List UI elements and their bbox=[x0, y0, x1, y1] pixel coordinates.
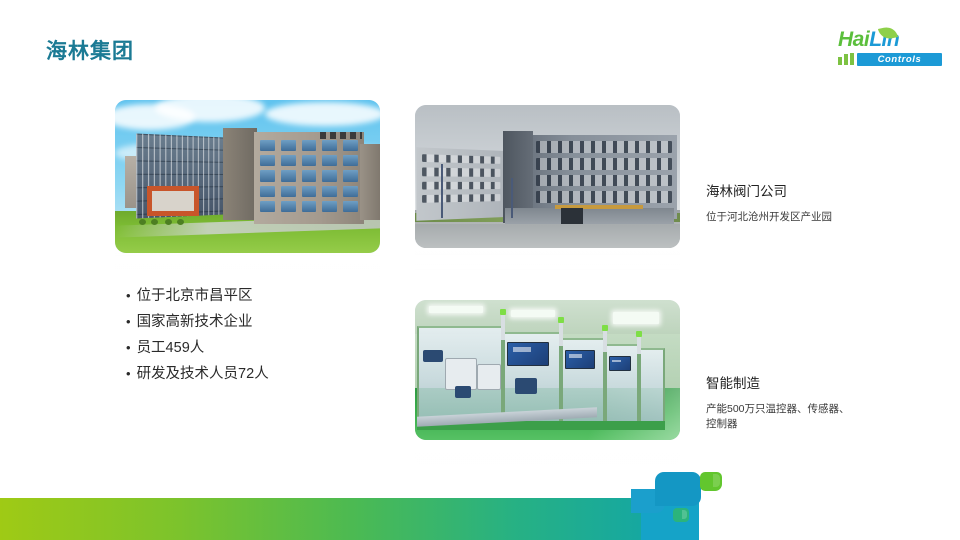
footer-gradient-bar bbox=[0, 498, 641, 540]
headquarters-photo bbox=[115, 100, 380, 253]
hailin-controls-logo: HaiLin Controls bbox=[838, 29, 942, 69]
page-title: 海林集团 bbox=[46, 41, 134, 62]
list-item-label: 研发及技术人员72人 bbox=[137, 361, 269, 387]
valve-factory-photo bbox=[415, 105, 680, 248]
valve-factory-photo-reflection bbox=[415, 248, 680, 278]
list-item-label: 国家高新技术企业 bbox=[137, 309, 253, 335]
valve-company-title: 海林阀门公司 bbox=[706, 183, 946, 201]
valve-company-subtitle: 位于河北沧州开发区产业园 bbox=[706, 210, 946, 225]
bullet-dot-icon: • bbox=[126, 335, 131, 361]
list-item: • 研发及技术人员72人 bbox=[126, 361, 396, 387]
bullet-dot-icon: • bbox=[126, 283, 131, 309]
smart-manufacturing-photo-reflection bbox=[415, 440, 680, 468]
bullet-dot-icon: • bbox=[126, 361, 131, 387]
footer-blue-tab bbox=[655, 472, 701, 506]
bullet-dot-icon: • bbox=[126, 309, 131, 335]
smart-manufacturing-subtitle-line2: 控制器 bbox=[706, 417, 946, 432]
logo-badge-controls: Controls bbox=[857, 53, 942, 66]
list-item: • 员工459人 bbox=[126, 335, 396, 361]
headquarters-photo-reflection bbox=[115, 253, 380, 287]
signal-bars-icon bbox=[838, 53, 854, 65]
list-item: • 国家高新技术企业 bbox=[126, 309, 396, 335]
footer-green-square bbox=[700, 472, 722, 491]
list-item-label: 员工459人 bbox=[137, 335, 205, 361]
list-item: • 位于北京市昌平区 bbox=[126, 283, 396, 309]
logo-text-hai: Hai bbox=[838, 28, 869, 51]
list-item-label: 位于北京市昌平区 bbox=[137, 283, 253, 309]
logo-wordmark: HaiLin bbox=[838, 29, 899, 51]
smart-manufacturing-title: 智能制造 bbox=[706, 375, 946, 393]
smart-manufacturing-caption: 智能制造 产能500万只温控器、传感器、 控制器 bbox=[706, 375, 946, 432]
smart-manufacturing-photo bbox=[415, 300, 680, 440]
logo-subbar: Controls bbox=[838, 52, 942, 66]
headquarters-bullet-list: • 位于北京市昌平区 • 国家高新技术企业 • 员工459人 • 研发及技术人员… bbox=[126, 283, 396, 387]
smart-manufacturing-subtitle-line1: 产能500万只温控器、传感器、 bbox=[706, 402, 946, 417]
valve-company-caption: 海林阀门公司 位于河北沧州开发区产业园 bbox=[706, 183, 946, 225]
footer-teal-square bbox=[673, 508, 689, 522]
